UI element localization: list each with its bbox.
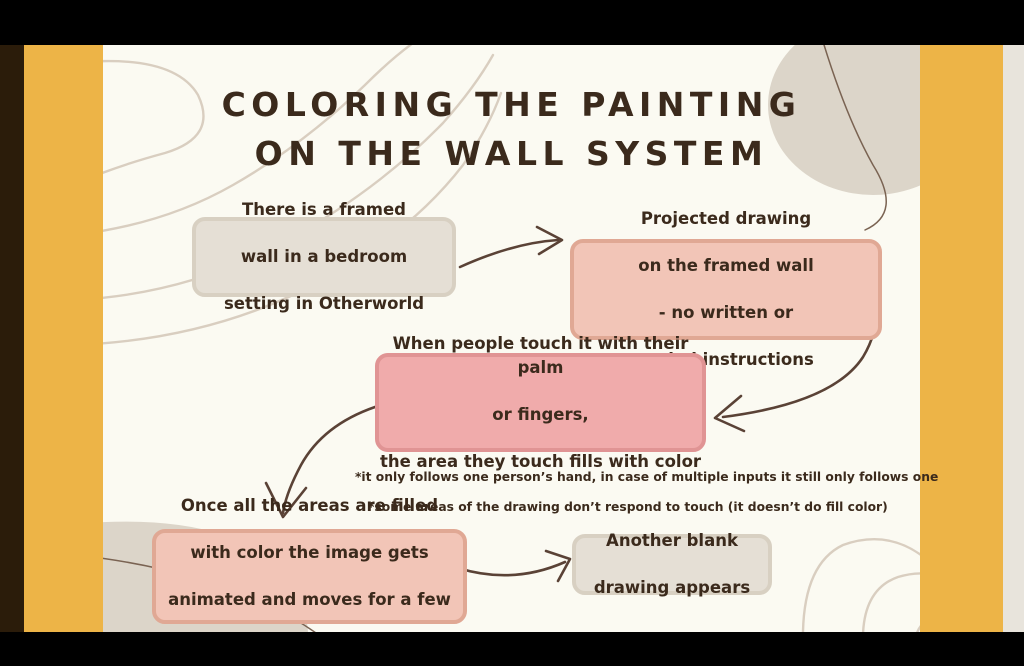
arrow-animated-image-to-another-blank-drawing [458, 551, 570, 581]
flow-box-touch-fills-color[interactable]: When people touch it with their palm or … [375, 353, 706, 452]
flow-box-animated-image-line-3: animated and moves for a few [156, 588, 463, 612]
flow-box-framed-wall-line-1: There is a framed [196, 198, 452, 222]
note-single-hand: *it only follows one person’s hand, in c… [355, 470, 938, 484]
flow-box-framed-wall[interactable]: There is a framed wall in a bedroom sett… [192, 217, 456, 297]
left-dark-edge [0, 45, 24, 632]
flow-box-animated-image[interactable]: Once all the areas are filled with color… [152, 529, 467, 624]
letterbox-top [0, 0, 1024, 45]
slide-stage: COLORING THE PAINTING ON THE WALL SYSTEM [0, 0, 1024, 666]
flow-box-touch-fills-color-line-1: When people touch it with their palm [379, 332, 702, 379]
page-title-line-1: COLORING THE PAINTING [103, 80, 920, 129]
page-title: COLORING THE PAINTING ON THE WALL SYSTEM [103, 80, 920, 178]
flow-box-framed-wall-line-2: wall in a bedroom [196, 245, 452, 269]
flow-box-animated-image-line-2: with color the image gets [156, 541, 463, 565]
page-title-line-2: ON THE WALL SYSTEM [103, 129, 920, 178]
flow-box-projected-drawing[interactable]: Projected drawing on the framed wall - n… [570, 239, 882, 340]
letterbox-bottom [0, 632, 1024, 666]
flow-box-another-blank-drawing-line-2: drawing appears [576, 576, 768, 600]
flow-box-projected-drawing-line-3: - no written or [574, 301, 878, 325]
note-unresponsive-areas: *some areas of the drawing don’t respond… [368, 500, 888, 514]
flow-box-another-blank-drawing[interactable]: Another blank drawing appears [572, 534, 772, 595]
arrow-framed-wall-to-projected-drawing [460, 227, 562, 267]
right-edge-strip [1003, 45, 1024, 632]
flow-box-another-blank-drawing-line-1: Another blank [576, 529, 768, 553]
flow-box-framed-wall-line-3: setting in Otherworld [196, 292, 452, 316]
flow-box-projected-drawing-line-2: on the framed wall [574, 254, 878, 278]
flow-box-projected-drawing-line-1: Projected drawing [574, 207, 878, 231]
slide-frame: COLORING THE PAINTING ON THE WALL SYSTEM [0, 45, 1024, 632]
flow-box-touch-fills-color-line-2: or fingers, [379, 403, 702, 427]
left-gold-panel [24, 45, 103, 632]
right-gold-panel [920, 45, 1003, 632]
